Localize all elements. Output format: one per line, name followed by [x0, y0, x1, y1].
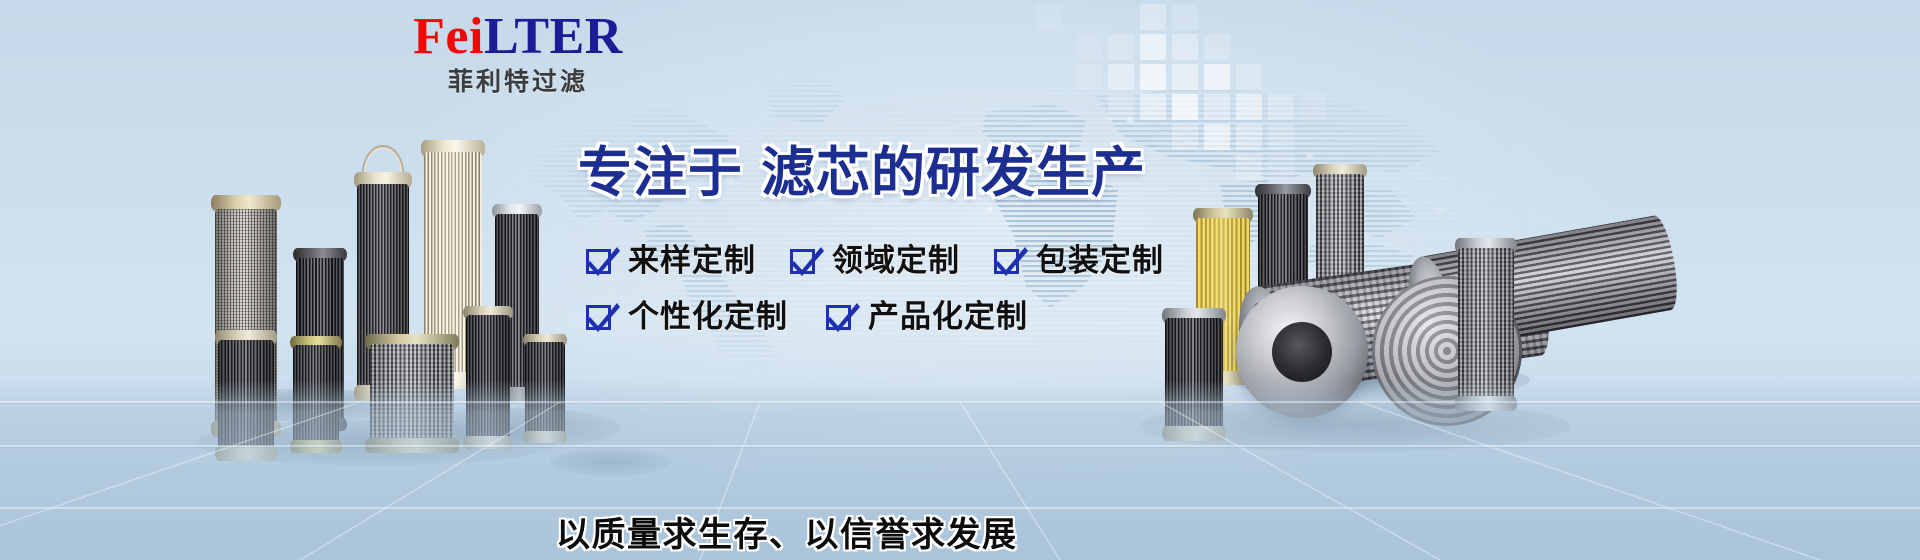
filter-cartridge	[1410, 214, 1683, 354]
product-shadow	[550, 448, 670, 476]
filter-cartridge	[215, 195, 277, 435]
feature-item-lai-yang[interactable]: 来样定制	[586, 244, 756, 278]
logo-wordmark: FeiLTER	[393, 8, 643, 66]
filter-cartridge	[525, 334, 565, 442]
checkbox-checked-icon	[586, 302, 616, 332]
filter-cartridge-bore	[1272, 322, 1332, 382]
product-shadow	[196, 420, 556, 466]
filter-cartridge	[357, 172, 409, 400]
filter-cartridge	[1236, 286, 1368, 418]
filter-cartridge	[466, 306, 510, 448]
product-shadow	[1140, 400, 1570, 452]
feature-label: 个性化定制	[628, 300, 788, 334]
filter-cartridge	[1316, 164, 1364, 362]
product-shadow	[420, 408, 620, 448]
filter-cartridge	[1458, 238, 1514, 410]
feature-item-ling-yu[interactable]: 领域定制	[790, 244, 960, 278]
world-map-decor	[430, 60, 1720, 390]
feature-item-bao-zhuang[interactable]: 包装定制	[994, 244, 1164, 278]
filter-cartridge	[370, 334, 454, 452]
checkbox-checked-icon	[586, 246, 616, 276]
checkbox-checked-icon	[790, 246, 820, 276]
feature-label: 产品化定制	[868, 300, 1028, 334]
filter-cartridge	[296, 248, 344, 430]
logo-wordmark-part2: LTER	[484, 8, 623, 65]
product-shadow	[230, 388, 390, 422]
filter-cartridge	[1242, 247, 1554, 396]
feature-row-2: 个性化定制 产品化定制	[586, 300, 1186, 334]
filter-cartridge	[293, 336, 339, 452]
feature-label: 领域定制	[832, 244, 960, 278]
headline-part2: 滤芯的研发生产	[761, 143, 1146, 203]
logo-wordmark-part1: Fei	[413, 8, 484, 65]
logo-subtitle: 菲利特过滤	[393, 67, 643, 97]
checkbox-checked-icon	[994, 246, 1024, 276]
headline: 专注于滤芯的研发生产	[578, 142, 1146, 204]
promo-banner: FeiLTER 菲利特过滤 专注于滤芯的研发生产 来样定制	[0, 0, 1920, 560]
filter-cartridge	[495, 204, 539, 400]
feature-list: 来样定制 领域定制 包装定制	[586, 244, 1186, 334]
feature-label: 来样定制	[628, 244, 756, 278]
product-shadow	[1230, 360, 1530, 400]
filter-cartridge	[1372, 276, 1522, 426]
feature-item-ge-xing-hua[interactable]: 个性化定制	[586, 300, 788, 334]
checkbox-checked-icon	[826, 302, 856, 332]
headline-part1: 专注于	[578, 143, 743, 203]
filter-cartridge	[1196, 208, 1250, 384]
filter-cartridge	[218, 330, 274, 460]
filter-cartridge	[424, 140, 482, 388]
tagline: 以质量求生存、以信誉求发展	[556, 515, 1018, 555]
feature-label: 包装定制	[1036, 244, 1164, 278]
feature-item-chan-pin-hua[interactable]: 产品化定制	[826, 300, 1028, 334]
filter-cartridge	[1258, 184, 1308, 374]
brand-logo[interactable]: FeiLTER 菲利特过滤	[393, 8, 643, 97]
feature-row-1: 来样定制 领域定制 包装定制	[586, 244, 1186, 278]
